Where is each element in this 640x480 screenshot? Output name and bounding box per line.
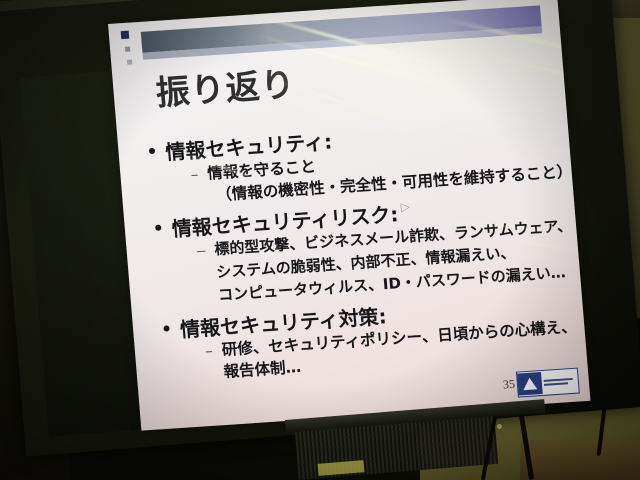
cable-clip-icon: [497, 424, 502, 429]
presentation-slide: 振り返り • 情報セキュリティ: – 情報を守ること （情報の機密性・完全性・可…: [108, 0, 590, 431]
mouse-cursor-icon: ▷: [400, 199, 410, 214]
photo-scene: 振り返り • 情報セキュリティ: – 情報を守ること （情報の機密性・完全性・可…: [0, 0, 640, 480]
bullet-marker-icon: •: [160, 319, 173, 341]
logo-text-lines: [542, 377, 579, 387]
organization-logo: [516, 368, 580, 398]
slide-header-square-icon: [121, 31, 130, 40]
slide-title: 振り返り: [155, 68, 297, 111]
slide-body: • 情報セキュリティ: – 情報を守ること （情報の機密性・完全性・可用性を維持…: [145, 106, 585, 387]
slide-number: 35: [502, 377, 515, 393]
dash-marker-icon: –: [190, 163, 200, 185]
projected-slide-wrapper: 振り返り • 情報セキュリティ: – 情報を守ること （情報の機密性・完全性・可…: [108, 0, 591, 443]
logo-mark-icon: [517, 372, 543, 396]
bullet-marker-icon: •: [146, 142, 159, 164]
slide-header-square-icon-small: [125, 47, 130, 52]
bullet-marker-icon: •: [152, 218, 165, 240]
slide-header-square-icon-tiny: [127, 59, 132, 64]
dash-marker-icon: –: [204, 340, 214, 362]
room-floor: [520, 440, 640, 480]
dash-marker-icon: –: [196, 239, 210, 308]
